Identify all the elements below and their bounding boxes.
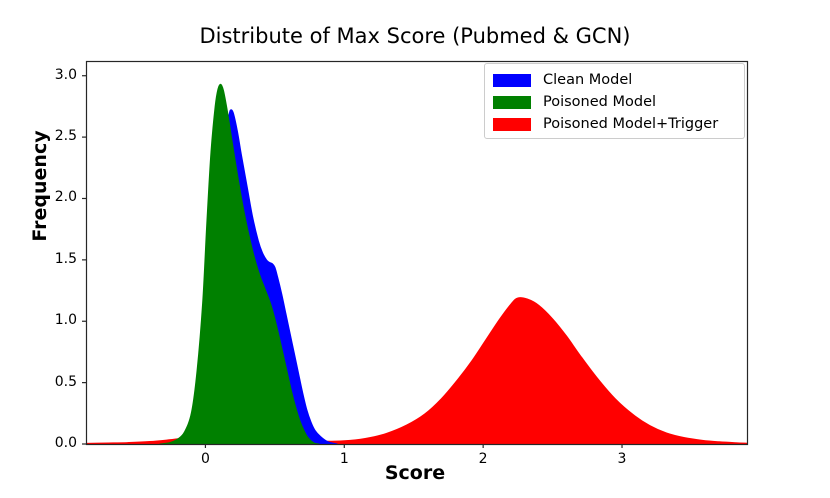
- legend-swatch-poisoned-model: [493, 96, 531, 109]
- legend-item: Poisoned Model+Trigger: [493, 113, 736, 135]
- legend-label: Poisoned Model+Trigger: [543, 116, 718, 132]
- legend-swatch-clean-model: [493, 74, 531, 87]
- legend-item: Poisoned Model: [493, 91, 736, 113]
- y-tick-label: 0.0: [32, 435, 77, 451]
- figure-canvas: Distribute of Max Score (Pubmed & GCN) 0…: [0, 0, 830, 498]
- y-axis-label: Frequency: [29, 106, 51, 266]
- legend-label: Poisoned Model: [543, 94, 656, 110]
- y-tick-label: 0.5: [32, 374, 77, 390]
- legend-label: Clean Model: [543, 72, 632, 88]
- chart-legend: Clean Model Poisoned Model Poisoned Mode…: [484, 63, 745, 139]
- x-axis-label: Score: [0, 462, 830, 484]
- y-tick-label: 3.0: [32, 67, 77, 83]
- legend-swatch-poisoned-model-trigger: [493, 118, 531, 131]
- y-tick-label: 1.0: [32, 312, 77, 328]
- legend-item: Clean Model: [493, 69, 736, 91]
